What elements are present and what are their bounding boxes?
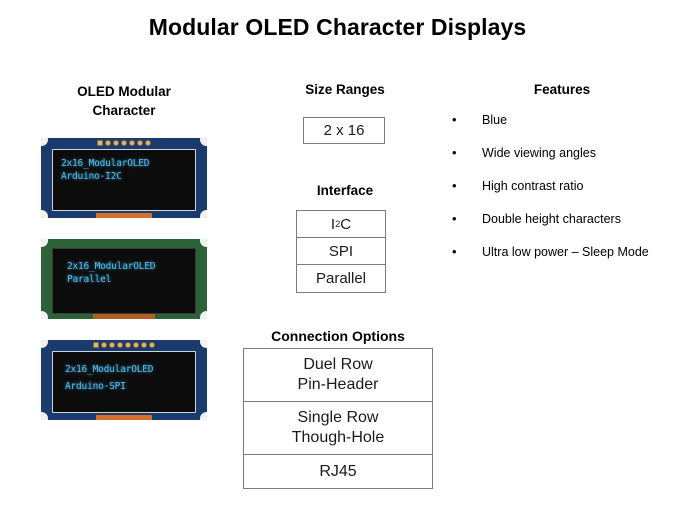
page-title: Modular OLED Character Displays bbox=[0, 14, 675, 41]
table-row: Single Row Though-Hole bbox=[244, 402, 432, 455]
mount-hole-icon bbox=[41, 210, 48, 218]
bullet-icon: • bbox=[452, 178, 482, 194]
oled-board-spi: 2x16_ModularOLED Arduino-SPI bbox=[41, 340, 207, 420]
list-item: • Ultra low power – Sleep Mode bbox=[452, 244, 670, 260]
list-item: • Wide viewing angles bbox=[452, 145, 670, 161]
interface-i2c-tail: C bbox=[340, 216, 351, 233]
bullet-icon: • bbox=[452, 112, 482, 128]
feature-label: Ultra low power – Sleep Mode bbox=[482, 244, 670, 260]
mount-hole-icon bbox=[41, 412, 48, 420]
bullet-icon: • bbox=[452, 244, 482, 260]
size-ranges-table: 2 x 16 bbox=[303, 117, 385, 144]
feature-label: Blue bbox=[482, 112, 670, 128]
mount-hole-icon bbox=[41, 311, 48, 319]
list-item: • Blue bbox=[452, 112, 670, 128]
conn-row0-line2: Pin-Header bbox=[298, 375, 379, 395]
pin-pads-icon bbox=[97, 140, 151, 146]
flex-connector bbox=[96, 213, 152, 218]
table-row: 2 x 16 bbox=[304, 118, 384, 143]
oled-glass: 2x16_ModularOLED Arduino-SPI bbox=[52, 351, 196, 413]
size-ranges-heading: Size Ranges bbox=[260, 82, 430, 97]
bullet-icon: • bbox=[452, 211, 482, 227]
bullet-icon: • bbox=[452, 145, 482, 161]
flex-connector bbox=[96, 415, 152, 420]
mount-hole-icon bbox=[41, 239, 48, 247]
feature-label: Wide viewing angles bbox=[482, 145, 670, 161]
oled-screen-line1: 2x16_ModularOLED bbox=[65, 363, 153, 376]
features-list: • Blue • Wide viewing angles • High cont… bbox=[452, 112, 670, 277]
products-heading-line1: OLED Modular bbox=[41, 82, 207, 101]
feature-label: High contrast ratio bbox=[482, 178, 670, 194]
connection-options-table: Duel Row Pin-Header Single Row Though-Ho… bbox=[243, 348, 433, 489]
interface-heading: Interface bbox=[260, 183, 430, 198]
oled-screen-line2: Arduino-I2C bbox=[61, 170, 122, 183]
mount-hole-icon bbox=[41, 340, 48, 348]
mount-hole-icon bbox=[200, 311, 207, 319]
mount-hole-icon bbox=[41, 138, 48, 146]
conn-row0-line1: Duel Row bbox=[298, 355, 379, 375]
mount-hole-icon bbox=[200, 239, 207, 247]
list-item: • High contrast ratio bbox=[452, 178, 670, 194]
pin-pads-icon bbox=[93, 342, 155, 348]
oled-screen-line2: Arduino-SPI bbox=[65, 380, 126, 393]
flex-connector bbox=[93, 314, 155, 319]
slide-canvas: Modular OLED Character Displays OLED Mod… bbox=[0, 0, 675, 506]
oled-screen-line2: Parallel bbox=[67, 273, 111, 286]
table-row: Parallel bbox=[297, 265, 385, 292]
mount-hole-icon bbox=[200, 340, 207, 348]
conn-row1-line2: Though-Hole bbox=[292, 428, 385, 448]
oled-board-parallel: 2x16_ModularOLED Parallel bbox=[41, 239, 207, 319]
table-row: SPI bbox=[297, 238, 385, 265]
conn-row2-line1: RJ45 bbox=[319, 462, 356, 482]
features-heading: Features bbox=[462, 82, 662, 97]
oled-glass: 2x16_ModularOLED Arduino-I2C bbox=[52, 149, 196, 211]
list-item: • Double height characters bbox=[452, 211, 670, 227]
table-row: RJ45 bbox=[244, 455, 432, 488]
products-heading-line2: Character bbox=[41, 101, 207, 120]
oled-screen-line1: 2x16_ModularOLED bbox=[67, 260, 155, 273]
oled-screen-line1: 2x16_ModularOLED bbox=[61, 157, 149, 170]
mount-hole-icon bbox=[200, 138, 207, 146]
oled-glass: 2x16_ModularOLED Parallel bbox=[52, 248, 196, 314]
products-column-heading: OLED Modular Character bbox=[41, 82, 207, 120]
interface-table: I2C SPI Parallel bbox=[296, 210, 386, 293]
feature-label: Double height characters bbox=[482, 211, 670, 227]
table-row: I2C bbox=[297, 211, 385, 238]
conn-row1-line1: Single Row bbox=[292, 408, 385, 428]
table-row: Duel Row Pin-Header bbox=[244, 349, 432, 402]
oled-board-i2c: 2x16_ModularOLED Arduino-I2C bbox=[41, 138, 207, 218]
connection-options-heading: Connection Options bbox=[240, 328, 436, 344]
mount-hole-icon bbox=[200, 412, 207, 420]
mount-hole-icon bbox=[200, 210, 207, 218]
